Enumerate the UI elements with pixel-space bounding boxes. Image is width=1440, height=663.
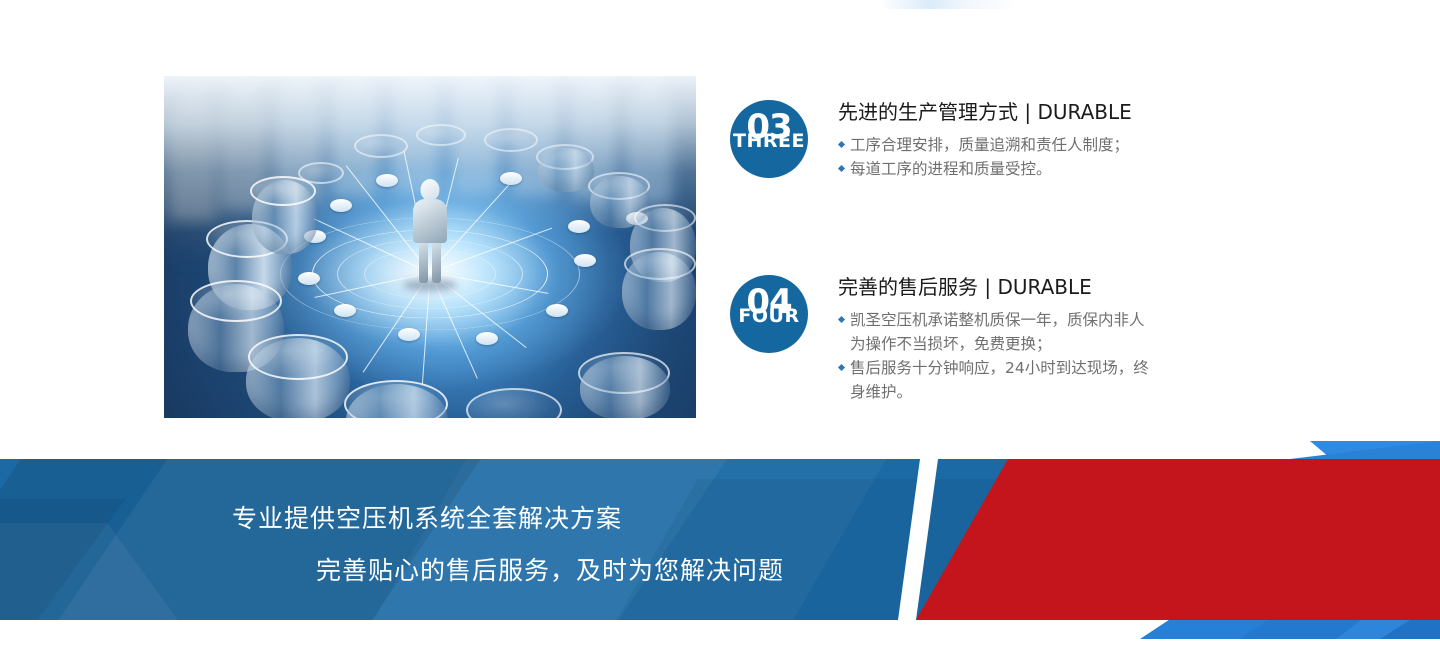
badge-word: FOUR <box>730 307 808 326</box>
feature-bullet-list: 凯圣空压机承诺整机质保一年，质保内非人 为操作不当损坏，免费更换； 售后服务十分… <box>838 308 1149 404</box>
banner-headline-line2: 完善贴心的售后服务，及时为您解决问题 <box>316 551 784 587</box>
torus-ring <box>354 134 408 158</box>
top-cutoff-sliver <box>880 0 1020 9</box>
cylinder-shape <box>580 356 670 418</box>
network-node <box>546 304 568 317</box>
network-node <box>330 199 352 212</box>
feature-body-03: 先进的生产管理方式 | DURABLE 工序合理安排，质量追溯和责任人制度； 每… <box>838 100 1132 181</box>
feature-badge-03: 03 THREE <box>730 100 808 178</box>
banner-red-panel <box>916 459 1440 620</box>
torus-ring <box>190 280 282 322</box>
network-node <box>298 272 320 285</box>
network-node <box>574 254 596 267</box>
network-node <box>500 172 522 185</box>
figure-torso <box>413 199 447 243</box>
network-node <box>398 328 420 341</box>
feature-bullet: 每道工序的进程和质量受控。 <box>838 157 1132 181</box>
figure-leg-left <box>419 239 428 283</box>
page-root: 03 THREE 先进的生产管理方式 | DURABLE 工序合理安排，质量追溯… <box>0 0 1440 663</box>
network-node <box>376 174 398 187</box>
figure-head <box>421 179 440 201</box>
network-illustration-image <box>164 76 696 418</box>
feature-body-04: 完善的售后服务 | DURABLE 凯圣空压机承诺整机质保一年，质保内非人 为操… <box>838 275 1149 404</box>
badge-word: THREE <box>730 132 808 151</box>
feature-badge-04: 04 FOUR <box>730 275 808 353</box>
feature-title: 先进的生产管理方式 | DURABLE <box>838 100 1132 124</box>
torus-ring <box>484 128 538 152</box>
feature-title: 完善的售后服务 | DURABLE <box>838 275 1149 299</box>
bottom-cta-banner: 专业提供空压机系统全套解决方案 完善贴心的售后服务，及时为您解决问题 24 小时… <box>0 459 1440 639</box>
figure-leg-right <box>432 239 441 283</box>
feature-bullet-list: 工序合理安排，质量追溯和责任人制度； 每道工序的进程和质量受控。 <box>838 133 1132 181</box>
figure-shadow <box>403 279 457 291</box>
banner-headline-group: 专业提供空压机系统全套解决方案 完善贴心的售后服务，及时为您解决问题 <box>0 459 1000 620</box>
cylinder-shape <box>622 252 696 330</box>
person-figure-icon <box>409 179 451 283</box>
banner-headline-line1: 专业提供空压机系统全套解决方案 <box>232 499 622 535</box>
cylinder-shape <box>538 148 594 192</box>
feature-bullet-cont: 身维护。 <box>838 380 1149 404</box>
torus-ring <box>416 124 466 146</box>
network-node <box>334 304 356 317</box>
torus-ring <box>298 162 344 184</box>
torus-ring <box>248 334 348 380</box>
feature-bullet: 凯圣空压机承诺整机质保一年，质保内非人 <box>838 308 1149 332</box>
network-node <box>568 220 590 233</box>
network-node <box>476 332 498 345</box>
feature-bullet-cont: 为操作不当损坏，免费更换； <box>838 332 1149 356</box>
feature-bullet: 工序合理安排，质量追溯和责任人制度； <box>838 133 1132 157</box>
feature-bullet: 售后服务十分钟响应，24小时到达现场，终 <box>838 356 1149 380</box>
